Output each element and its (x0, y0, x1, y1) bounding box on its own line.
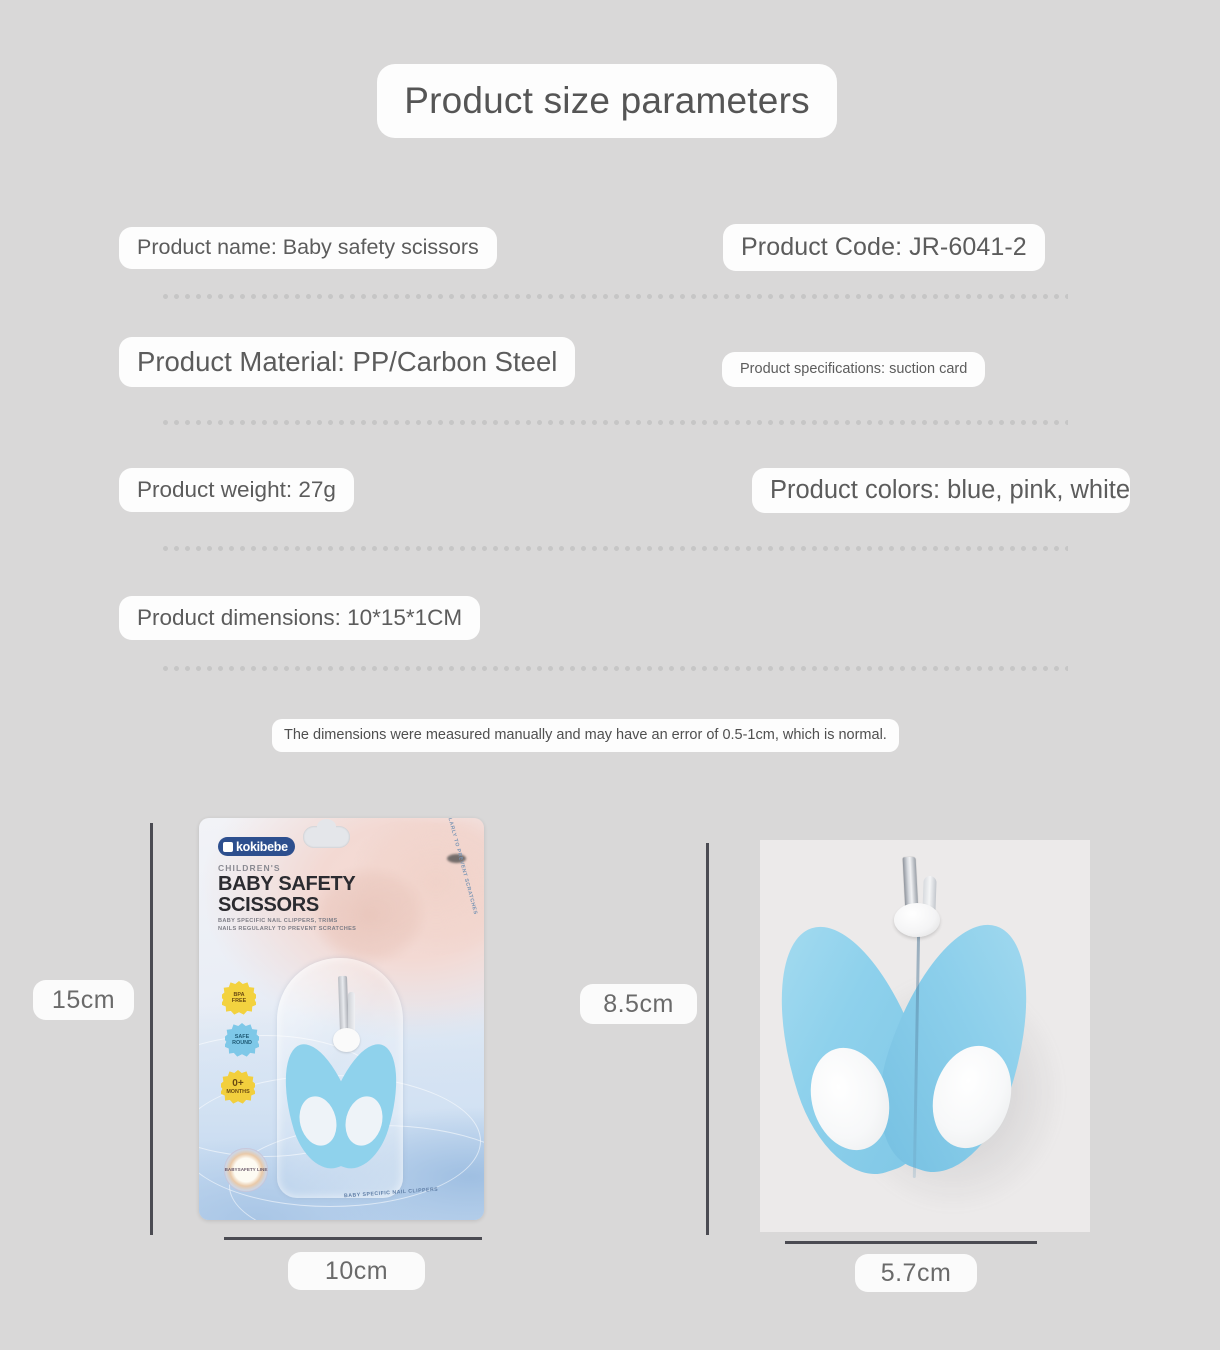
seal-line2: SAFETY LINE (238, 1167, 268, 1173)
spec-product-weight: Product weight: 27g (119, 468, 354, 512)
package-subtext-line1: BABY SPECIFIC NAIL CLIPPERS, TRIMS (218, 917, 356, 925)
package-width-rule (224, 1237, 482, 1240)
dotted-separator (160, 420, 1068, 425)
badge-line2: ROUND (232, 1040, 252, 1046)
package-photo: kokibebe CHILDREN'S BABY SAFETY SCISSORS… (199, 818, 484, 1220)
package-subtext: BABY SPECIFIC NAIL CLIPPERS, TRIMS NAILS… (218, 917, 356, 933)
page-title: Product size parameters (377, 64, 837, 138)
package-height-rule (150, 823, 153, 1235)
dotted-separator (160, 666, 1068, 671)
spec-product-material: Product Material: PP/Carbon Steel (119, 337, 575, 387)
product-width-rule (785, 1241, 1037, 1244)
seal-line1: BABY (225, 1167, 238, 1173)
brand-logo-text: kokibebe (236, 840, 288, 854)
measurement-package-height: 15cm (33, 980, 134, 1020)
package-headline: BABY SAFETY SCISSORS (218, 874, 355, 916)
spec-product-name: Product name: Baby safety scissors (119, 227, 497, 269)
badge-line2: FREE (232, 998, 246, 1004)
spec-product-dimensions: Product dimensions: 10*15*1CM (119, 596, 480, 640)
badge-bpa-free: BPA FREE (222, 981, 256, 1015)
package-headline-line1: BABY SAFETY (218, 874, 355, 895)
badge-line1: 0+ (232, 1079, 243, 1089)
brand-mark-icon (223, 842, 233, 852)
spec-product-colors: Product colors: blue, pink, white (752, 468, 1130, 513)
package-headline-line2: SCISSORS (218, 895, 355, 916)
measurement-disclaimer: The dimensions were measured manually an… (272, 719, 899, 752)
product-photo (760, 840, 1090, 1232)
spec-product-specifications: Product specifications: suction card (722, 352, 985, 387)
package-scissors-image (287, 976, 395, 1191)
measurement-package-width: 10cm (288, 1252, 425, 1290)
dotted-separator (160, 294, 1068, 299)
spec-product-code: Product Code: JR-6041-2 (723, 224, 1045, 271)
scissors-pivot-cap (894, 903, 940, 937)
badge-line2: MONTHS (226, 1089, 249, 1095)
package-subtext-line2: NAILS REGULARLY TO PREVENT SCRATCHES (218, 925, 356, 933)
badge-safety-seal: BABY SAFETY LINE (224, 1148, 268, 1192)
measurement-product-height: 8.5cm (580, 984, 697, 1024)
measurement-product-width: 5.7cm (855, 1254, 977, 1292)
scissors-pivot-cap (333, 1028, 360, 1052)
dotted-separator (160, 546, 1068, 551)
product-height-rule (706, 843, 709, 1235)
euro-hang-hole (303, 826, 350, 848)
package-audience-label: CHILDREN'S (218, 863, 281, 873)
brand-logo: kokibebe (218, 837, 295, 856)
